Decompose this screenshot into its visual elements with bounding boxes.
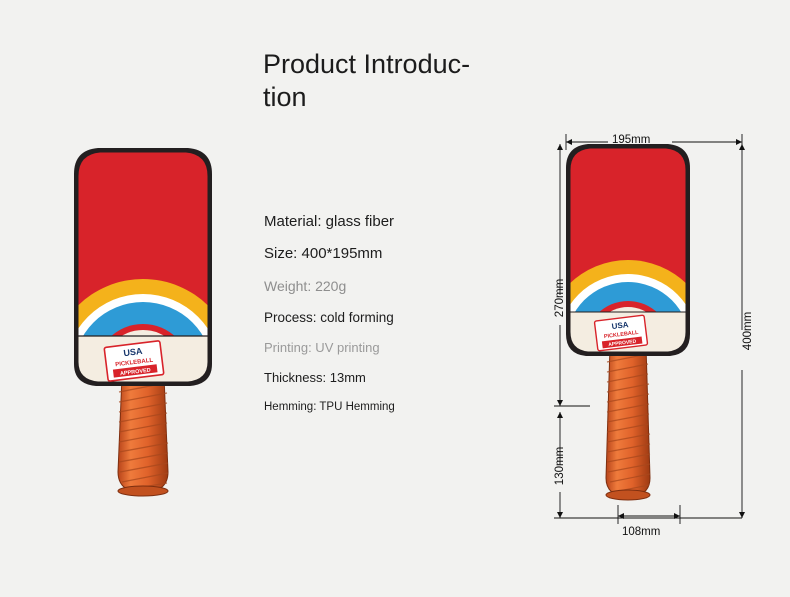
product-introduction-page: Product Introduc- tion bbox=[0, 0, 790, 597]
dim-width-top: 195mm bbox=[612, 134, 650, 146]
spec-hemming: Hemming: TPU Hemming bbox=[264, 397, 494, 417]
usa-pickleball-badge-left: USA PICKLEBALL APPROVED bbox=[104, 341, 164, 382]
dim-handle-length: 130mm bbox=[554, 438, 566, 494]
spec-size: Size: 400*195mm bbox=[264, 242, 494, 266]
paddle-grip-left bbox=[118, 376, 168, 496]
dim-height-total: 400mm bbox=[742, 303, 754, 359]
spec-printing: Printing: UV printing bbox=[264, 337, 494, 359]
spec-process: Process: cold forming bbox=[264, 306, 494, 329]
spec-material: Material: glass fiber bbox=[264, 210, 494, 234]
spec-weight: Weight: 220g bbox=[264, 274, 494, 298]
spec-list: Material: glass fiber Size: 400*195mm We… bbox=[264, 210, 494, 425]
page-title: Product Introduc- tion bbox=[263, 48, 533, 114]
dimension-overlay: 195mm 270mm 400mm 130mm 108mm bbox=[530, 120, 770, 540]
paddle-illustration-left: USA PICKLEBALL APPROVED bbox=[48, 140, 238, 500]
dim-grip-width: 108mm bbox=[622, 526, 660, 538]
spec-thickness: Thickness: 13mm bbox=[264, 367, 494, 389]
dim-height-face: 270mm bbox=[554, 270, 566, 326]
